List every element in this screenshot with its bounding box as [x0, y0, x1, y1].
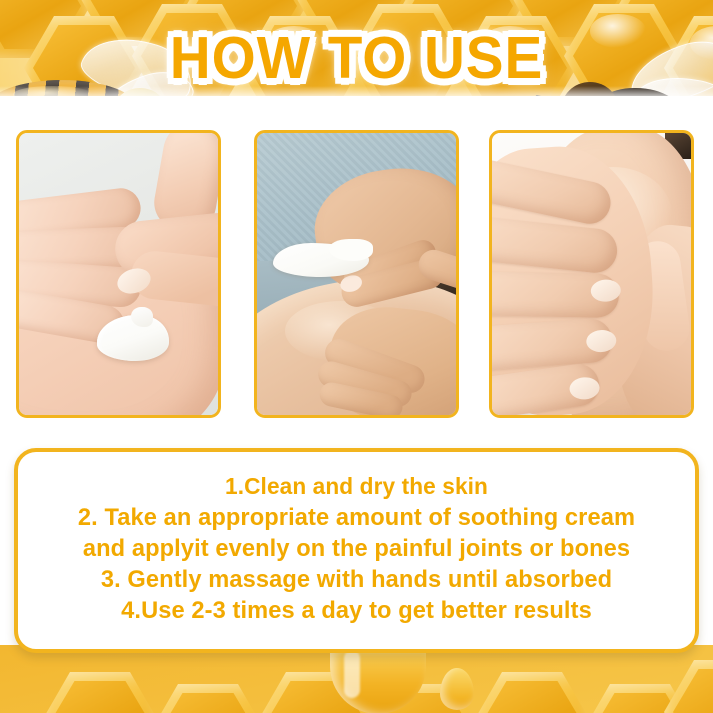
- title-band: [0, 96, 713, 130]
- photo-panel-row: [0, 130, 713, 420]
- panel-massage-knee[interactable]: [489, 130, 694, 418]
- panel-apply-to-knee[interactable]: [254, 130, 459, 418]
- photo-apply-to-knee: [257, 133, 456, 415]
- hand-finger: [492, 155, 614, 228]
- fingernail: [586, 329, 617, 353]
- instruction-step-2-line-2: and applyit evenly on the painful joints…: [33, 533, 680, 564]
- panel-apply-to-palm[interactable]: [16, 130, 221, 418]
- hand-finger: [492, 214, 619, 275]
- page-title: HOW TO USE: [14, 26, 698, 90]
- cream-smear: [273, 243, 369, 277]
- instruction-step-1: 1.Clean and dry the skin: [33, 471, 680, 502]
- photo-apply-to-palm: [19, 133, 218, 415]
- infographic-how-to-use: HOW TO USE: [0, 0, 713, 713]
- instruction-step-3: 3. Gently massage with hands until absor…: [33, 564, 680, 595]
- instructions-box: 1.Clean and dry the skin 2. Take an appr…: [14, 448, 699, 653]
- instruction-step-4: 4.Use 2-3 times a day to get better resu…: [33, 595, 680, 626]
- photo-massage-knee: [492, 133, 691, 415]
- instruction-step-2-line-1: 2. Take an appropriate amount of soothin…: [33, 502, 680, 533]
